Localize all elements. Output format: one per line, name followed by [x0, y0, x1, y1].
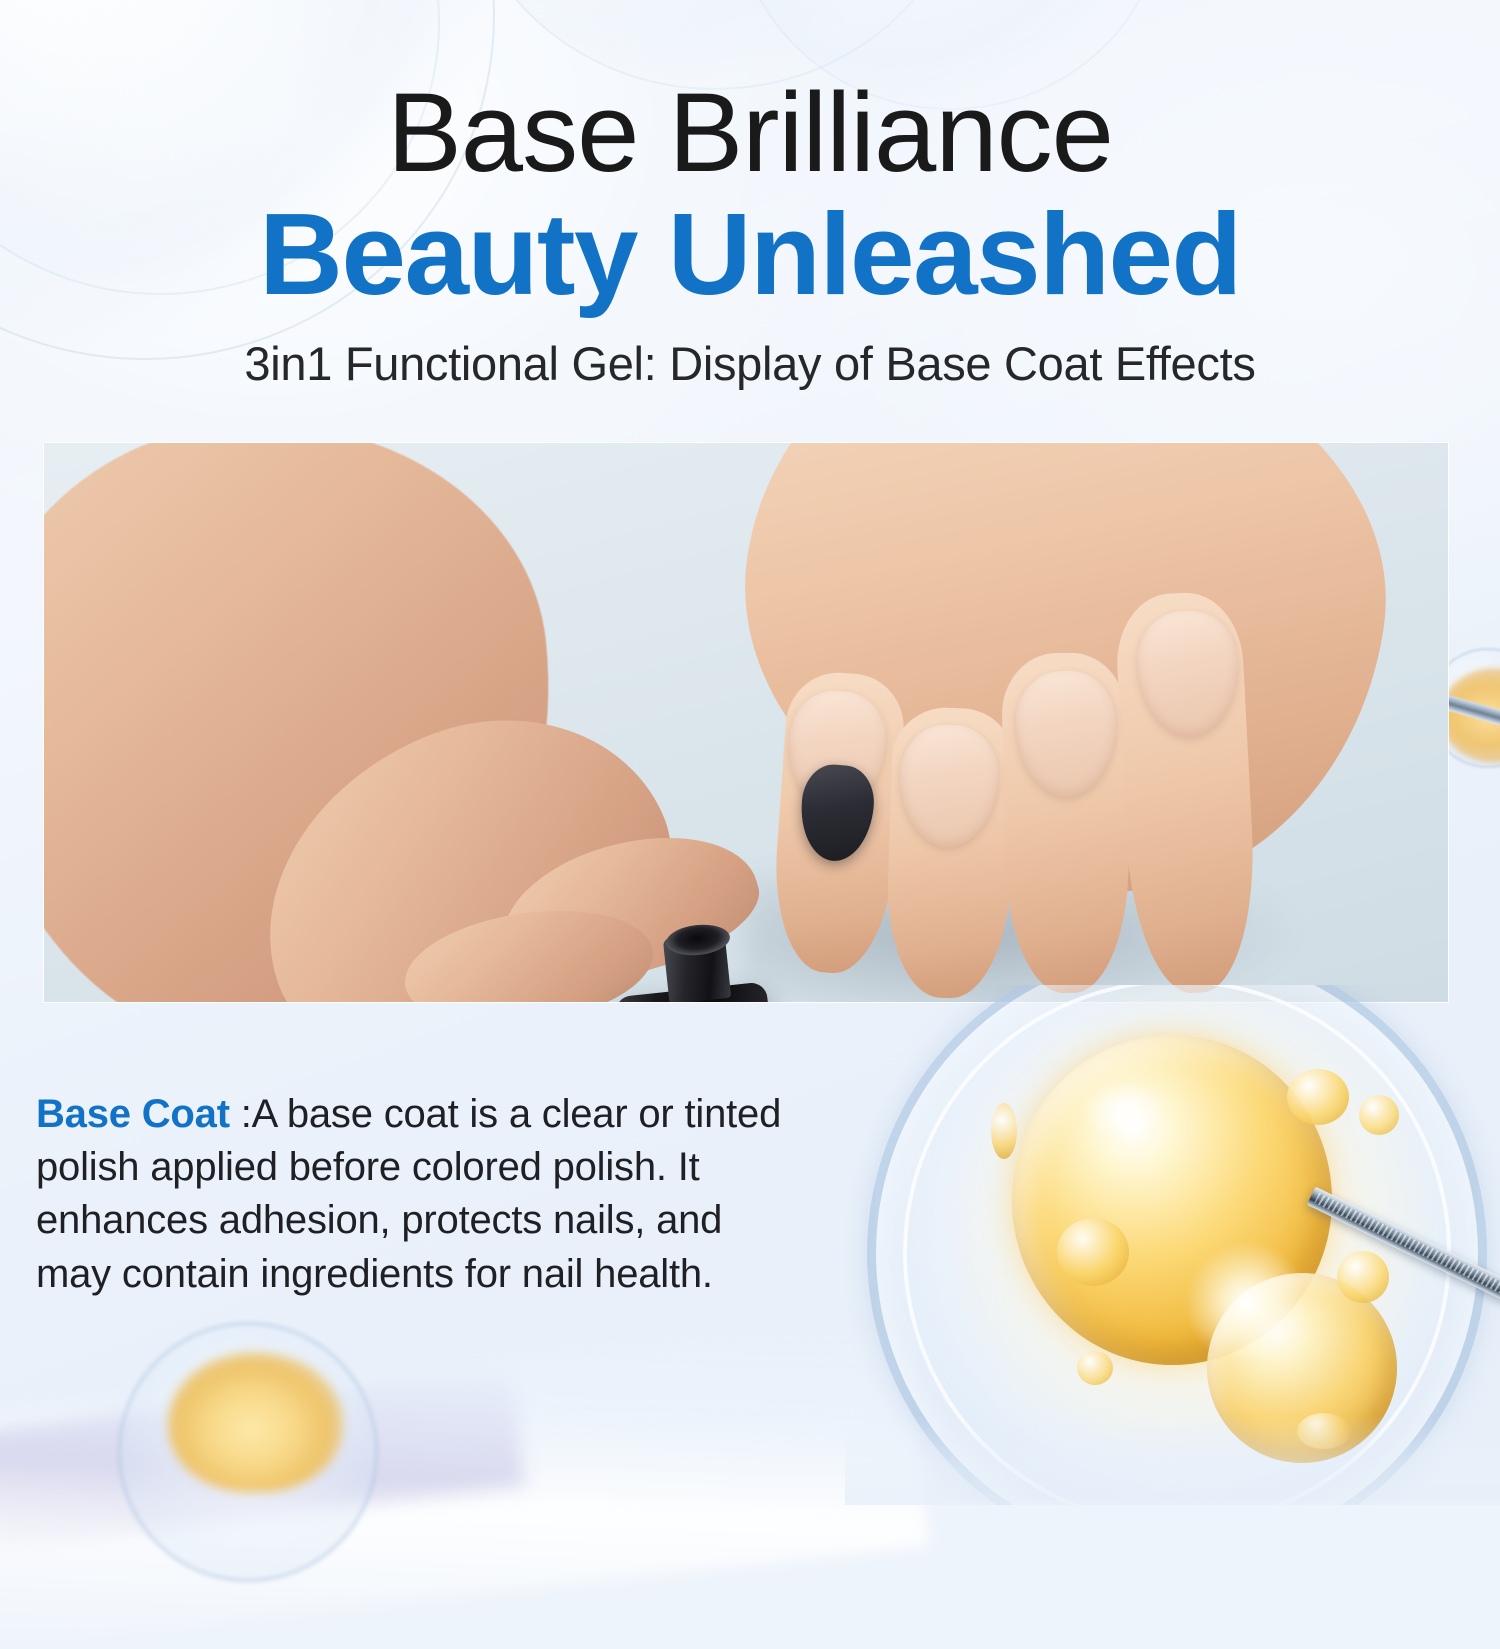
background-golden-gel-blob: [168, 1352, 343, 1492]
page-title-accent: Beauty Unleashed: [0, 196, 1500, 312]
petri-dish-golden-oil-image: [845, 985, 1500, 1505]
oil-droplet-small: [1359, 1095, 1399, 1135]
base-coat-description: Base Coat :A base coat is a clear or tin…: [36, 1088, 796, 1301]
oil-droplet-small: [1337, 1251, 1389, 1303]
header: Base Brilliance Beauty Unleashed 3in1 Fu…: [0, 0, 1500, 390]
oil-droplet-small: [1077, 1351, 1113, 1385]
label-separator: :: [230, 1092, 252, 1136]
page-title: Base Brilliance: [0, 0, 1500, 190]
petri-dish-light-flare: [1177, 1233, 1317, 1373]
hero-photo: MODELONES® RUBBER BASE COAT SOAK-OFF UV&…: [44, 443, 1448, 1002]
base-coat-label: Base Coat: [36, 1092, 230, 1136]
page-subtitle: 3in1 Functional Gel: Display of Base Coa…: [0, 338, 1500, 390]
oil-droplet-small: [1057, 1218, 1129, 1286]
oil-droplet-small: [1287, 1069, 1349, 1125]
oil-droplet-small: [991, 1103, 1017, 1159]
petri-dish-bottom-fade: [845, 1415, 1500, 1505]
